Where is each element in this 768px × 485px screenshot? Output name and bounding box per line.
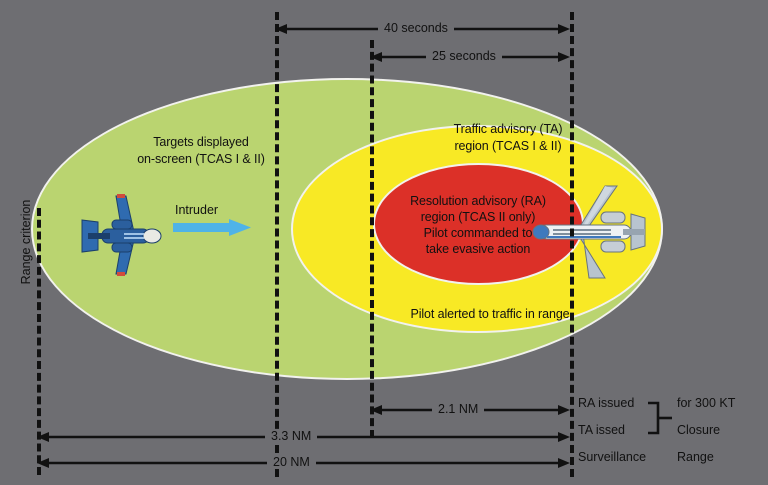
yellow-region-label: Traffic advisory (TA) region (TCAS I & I…: [398, 121, 618, 155]
ta-issued-label: TA issed: [578, 423, 625, 437]
range-criterion-label: Range criterion: [19, 172, 33, 312]
surveillance-boundary-line: [275, 12, 279, 477]
surveillance-label: Surveillance: [578, 450, 646, 464]
intruder-label: Intruder: [175, 203, 218, 217]
measure-25-seconds: 25 seconds: [370, 50, 570, 68]
intruder-direction-arrow-icon: [173, 219, 251, 236]
ra-issued-label: RA issued: [578, 396, 634, 410]
green-region-label: Targets displayed on-screen (TCAS I & II…: [96, 134, 306, 168]
measure-surveillance-range-value: 20 NM: [267, 455, 316, 469]
tcas-diagram: Targets displayed on-screen (TCAS I & II…: [0, 0, 768, 485]
range-label: Range: [677, 450, 714, 464]
ta-boundary-line: [370, 40, 374, 438]
measure-surveillance-range: 20 NM: [37, 456, 570, 474]
closure-bracket-icon: [648, 398, 674, 438]
pilot-alert-label: Pilot alerted to traffic in range: [330, 306, 650, 323]
for-300kt-label: for 300 KT: [677, 396, 735, 410]
measure-ra-range-value: 2.1 NM: [432, 402, 484, 416]
closure-label: Closure: [677, 423, 720, 437]
measure-25-seconds-value: 25 seconds: [426, 49, 502, 63]
measure-40-seconds-value: 40 seconds: [378, 21, 454, 35]
measure-ra-range: 2.1 NM: [370, 403, 570, 421]
measure-40-seconds: 40 seconds: [275, 22, 570, 40]
measure-ta-range-value: 3.3 NM: [265, 429, 317, 443]
measure-ta-range: 3.3 NM: [37, 430, 570, 448]
intruder-aircraft-icon: [72, 192, 168, 278]
red-region-label: Resolution advisory (RA) region (TCAS II…: [378, 193, 578, 257]
